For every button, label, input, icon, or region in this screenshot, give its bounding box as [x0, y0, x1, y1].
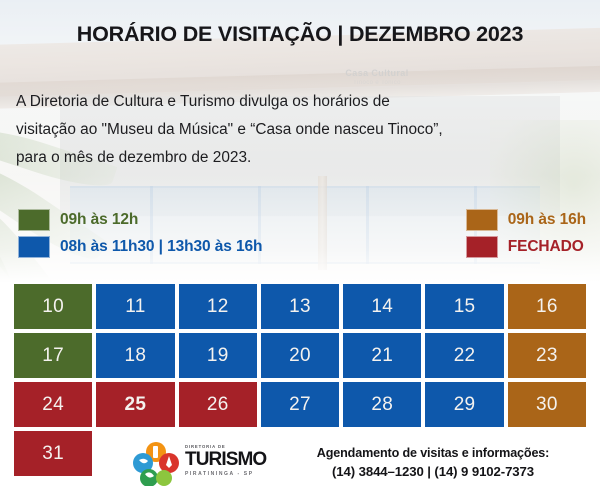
calendar-day[interactable]: 18 — [96, 333, 174, 378]
calendar-day[interactable]: 30 — [508, 382, 586, 427]
logo-wordmark: TURISMO — [185, 450, 281, 469]
legend-label: FECHADO — [508, 238, 584, 256]
turismo-logo-mark — [133, 442, 179, 486]
calendar-day[interactable]: 16 — [508, 284, 586, 329]
logo-tagline-bottom: PIRATININGA - SP — [185, 471, 281, 477]
calendar-day[interactable]: 23 — [508, 333, 586, 378]
page-title: HORÁRIO DE VISITAÇÃO | DEZEMBRO 2023 — [0, 22, 600, 47]
turismo-logo: DIRETORIA DE TURISMO PIRATININGA - SP — [133, 441, 281, 487]
intro-paragraph: A Diretoria de Cultura e Turismo divulga… — [16, 88, 584, 172]
legend-right: 09h às 16h FECHADO — [466, 209, 586, 258]
calendar-day[interactable]: 28 — [343, 382, 421, 427]
calendar-day[interactable]: 27 — [261, 382, 339, 427]
calendar-day[interactable]: 22 — [425, 333, 503, 378]
calendar-day[interactable]: 31 — [14, 431, 92, 476]
legend-left: 09h às 12h 08h às 11h30 | 13h30 às 16h — [18, 209, 262, 258]
calendar-day[interactable]: 11 — [96, 284, 174, 329]
calendar-day[interactable]: 25 — [96, 382, 174, 427]
calendar-day[interactable]: 21 — [343, 333, 421, 378]
intro-line-2: visitação ao "Museu da Música" e “Casa o… — [16, 116, 584, 144]
calendar-day[interactable]: 12 — [179, 284, 257, 329]
contact-block: Agendamento de visitas e informações: (1… — [278, 446, 588, 479]
intro-line-3: para o mês de dezembro de 2023. — [16, 144, 584, 172]
calendar-day[interactable]: 26 — [179, 382, 257, 427]
legend-item: FECHADO — [466, 236, 584, 258]
legend-swatch-orange — [466, 209, 498, 231]
legend-swatch-blue — [18, 236, 50, 258]
calendar-day[interactable]: 20 — [261, 333, 339, 378]
legend-item: 08h às 11h30 | 13h30 às 16h — [18, 236, 262, 258]
intro-line-1: A Diretoria de Cultura e Turismo divulga… — [16, 88, 584, 116]
legend-label: 09h às 16h — [508, 211, 586, 229]
calendar-day[interactable]: 13 — [261, 284, 339, 329]
turismo-logo-text: DIRETORIA DE TURISMO PIRATININGA - SP — [185, 444, 281, 477]
contact-label: Agendamento de visitas e informações: — [278, 446, 588, 460]
legend-swatch-green — [18, 209, 50, 231]
calendar-day[interactable]: 19 — [179, 333, 257, 378]
contact-numbers[interactable]: (14) 3844–1230 | (14) 9 9102-7373 — [278, 464, 588, 479]
calendar-day[interactable]: 15 — [425, 284, 503, 329]
calendar-day[interactable]: 14 — [343, 284, 421, 329]
calendar-day[interactable]: 17 — [14, 333, 92, 378]
legend-item: 09h às 12h — [18, 209, 262, 231]
poster: Casa Cultural Tinoco e Tonico HORÁRIO DE… — [0, 0, 600, 503]
calendar-day[interactable]: 24 — [14, 382, 92, 427]
legend-label: 09h às 12h — [60, 211, 138, 229]
calendar-day[interactable]: 10 — [14, 284, 92, 329]
legend-item: 09h às 16h — [466, 209, 586, 231]
legend-swatch-red — [466, 236, 498, 258]
calendar-day[interactable]: 29 — [425, 382, 503, 427]
legend-label: 08h às 11h30 | 13h30 às 16h — [60, 238, 262, 256]
